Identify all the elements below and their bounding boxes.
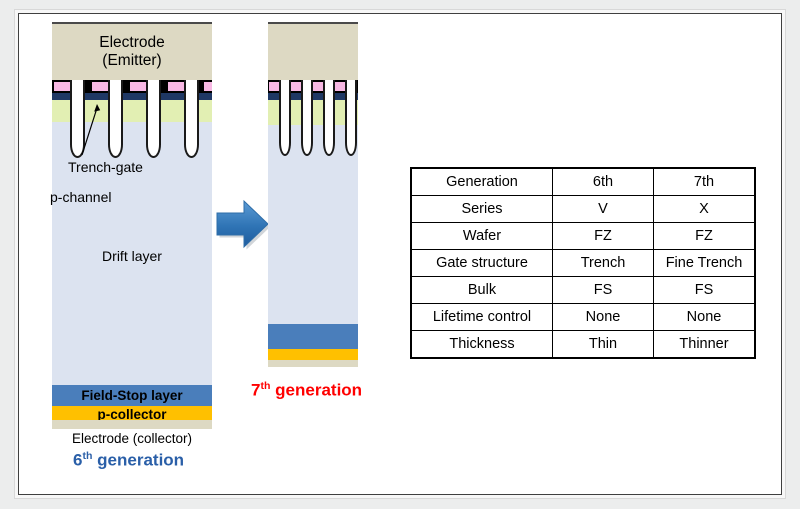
- table-cell-gen6: Thin: [553, 331, 654, 359]
- gen7-caption-superscript: th: [260, 380, 270, 392]
- gen6-p-channel-pointer: [52, 22, 212, 420]
- table-row: Series V X: [411, 196, 755, 223]
- table-cell-parameter: Gate structure: [411, 250, 553, 277]
- gen7-caption-word: generation: [275, 381, 362, 400]
- gen6-field-stop-label: Field-Stop layer: [52, 388, 212, 404]
- gen6-p-channel-label: p-channel: [50, 189, 112, 206]
- table-row: Gate structure Trench Fine Trench: [411, 250, 755, 277]
- table-cell-gen7: Thinner: [654, 331, 756, 359]
- gen6-collector-electrode-label: Electrode (collector): [32, 431, 232, 447]
- transition-arrow: [212, 196, 272, 254]
- table-cell-gen6: FS: [553, 277, 654, 304]
- table-cell-gen6: 6th: [553, 168, 654, 196]
- table-body: Generation 6th 7th Series V X Wafer FZ F…: [411, 168, 755, 358]
- table-row: Lifetime control None None: [411, 304, 755, 331]
- table-row: Bulk FS FS: [411, 277, 755, 304]
- table-cell-gen7: X: [654, 196, 756, 223]
- table-cell-gen7: None: [654, 304, 756, 331]
- table-cell-gen6: None: [553, 304, 654, 331]
- gen6-drift-layer-label: Drift layer: [52, 248, 212, 265]
- gen7-trench-gate: [323, 80, 335, 156]
- table-cell-gen7: FS: [654, 277, 756, 304]
- gen6-caption-superscript: th: [82, 450, 92, 462]
- gen7-p-collector-layer: [268, 349, 358, 360]
- gen6-trench-gate-label: Trench-gate: [68, 159, 143, 176]
- table-cell-parameter: Wafer: [411, 223, 553, 250]
- gen7-caption: 7th generation: [251, 380, 362, 401]
- gen7-emitter-electrode-layer: [268, 24, 358, 80]
- gen7-trench-gate: [279, 80, 291, 156]
- table-cell-gen6: FZ: [553, 223, 654, 250]
- table-cell-parameter: Bulk: [411, 277, 553, 304]
- table-cell-parameter: Series: [411, 196, 553, 223]
- table-cell-parameter: Generation: [411, 168, 553, 196]
- gen6-caption: 6th generation: [73, 450, 184, 471]
- gen6-caption-word: generation: [97, 451, 184, 470]
- table-cell-gen6: V: [553, 196, 654, 223]
- table-row: Generation 6th 7th: [411, 168, 755, 196]
- gen7-trench-gate: [301, 80, 313, 156]
- gen6-collector-electrode-layer: [52, 420, 212, 429]
- gen6-cross-section: Electrode (Emitter) Trench-gate p-channe…: [52, 22, 212, 420]
- gen7-trench-gate: [345, 80, 357, 156]
- generation-comparison-table: Generation 6th 7th Series V X Wafer FZ F…: [410, 167, 756, 359]
- table-cell-gen7: FZ: [654, 223, 756, 250]
- gen7-cross-section: [268, 22, 358, 360]
- table-cell-parameter: Lifetime control: [411, 304, 553, 331]
- table-row: Thickness Thin Thinner: [411, 331, 755, 359]
- gen7-drift-layer: [268, 125, 358, 324]
- gen7-collector-electrode-layer: [268, 360, 358, 367]
- table-cell-parameter: Thickness: [411, 331, 553, 359]
- table-cell-gen7: Fine Trench: [654, 250, 756, 277]
- table-cell-gen6: Trench: [553, 250, 654, 277]
- figure-canvas: Electrode (Emitter) Trench-gate p-channe…: [0, 0, 800, 509]
- gen7-field-stop-layer: [268, 324, 358, 349]
- table-row: Wafer FZ FZ: [411, 223, 755, 250]
- table-cell-gen7: 7th: [654, 168, 756, 196]
